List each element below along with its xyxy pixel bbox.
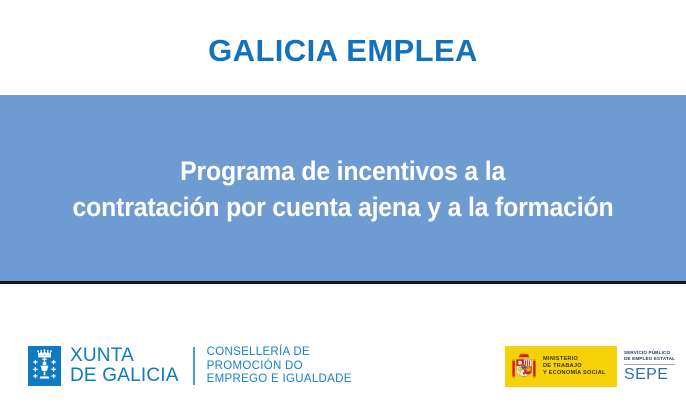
sepe-divider [624, 364, 675, 365]
xunta-de-galicia-logo: XUNTA DE GALICIA CONSELLERÍA DE PROMOCIÓ… [28, 346, 352, 387]
sepe-subtitle-line2: DE EMPLEO ESTATAL [624, 356, 675, 362]
galicia-coat-of-arms-icon [28, 346, 61, 386]
sepe-subtitle-line1: SERVICIO PÚBLICO [624, 350, 675, 356]
sepe-subtitle: SERVICIO PÚBLICO DE EMPLEO ESTATAL [624, 350, 675, 362]
program-banner: Programa de incentivos a la contratación… [0, 95, 686, 283]
title-area: GALICIA EMPLEA [0, 0, 686, 95]
ministerio-wordmark: MINISTERIO DE TRABAJO Y ECONOMÍA SOCIAL [543, 356, 606, 378]
spain-coat-of-arms-icon [511, 350, 537, 383]
ministerio-line3: Y ECONOMÍA SOCIAL [543, 370, 606, 377]
footer-logo-bar: XUNTA DE GALICIA CONSELLERÍA DE PROMOCIÓ… [0, 284, 686, 410]
banner-headline-line1: Programa de incentivos a la [181, 154, 506, 188]
xunta-wordmark-line2: DE GALICIA [70, 366, 179, 386]
xunta-wordmark-line1: XUNTA [70, 346, 179, 366]
conselleria-line2: PROMOCIÓN DO [207, 360, 352, 374]
logo-divider [193, 347, 195, 385]
banner-headline-line2: contratación por cuenta ajena y a la for… [73, 190, 614, 224]
ministerio-line2: DE TRABAJO [543, 363, 606, 370]
sepe-acronym: SEPE [624, 366, 675, 384]
page-title: GALICIA EMPLEA [208, 33, 478, 69]
ministerio-line1: MINISTERIO [543, 356, 606, 363]
ministerio-de-trabajo-logo: MINISTERIO DE TRABAJO Y ECONOMÍA SOCIAL [505, 346, 617, 387]
sepe-logo: SERVICIO PÚBLICO DE EMPLEO ESTATAL SEPE [619, 346, 680, 387]
xunta-wordmark: XUNTA DE GALICIA [70, 346, 179, 386]
conselleria-line3: EMPREGO E IGUALDADE [207, 373, 352, 387]
conselleria-line1: CONSELLERÍA DE [207, 346, 352, 360]
conselleria-wordmark: CONSELLERÍA DE PROMOCIÓN DO EMPREGO E IG… [207, 346, 352, 387]
